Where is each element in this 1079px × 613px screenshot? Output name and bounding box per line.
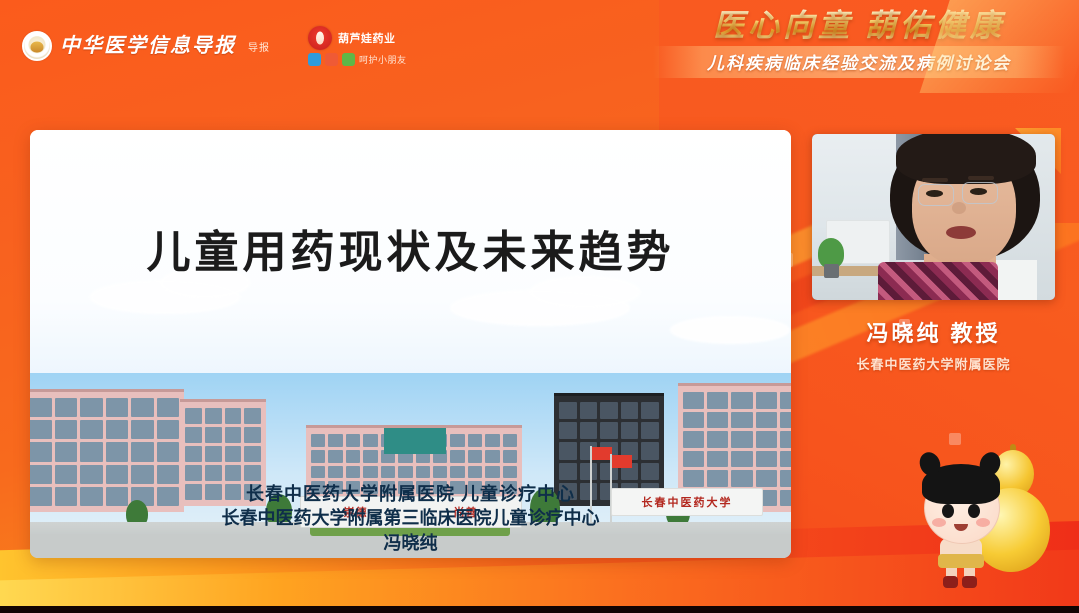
sponsor-logo-name: 葫芦娃药业 (338, 30, 396, 46)
speaker-affiliation: 长春中医药大学附属医院 (812, 354, 1055, 373)
event-banner: 医心向童 葫佑健康 儿科疾病临床经验交流及病例讨论会 (653, 8, 1065, 78)
chip-blue-icon (308, 53, 321, 66)
event-subtitle-strip: 儿科疾病临床经验交流及病例讨论会 (653, 46, 1065, 78)
journal-logo: 中华医学信息导报 导报 (22, 31, 270, 61)
slide-subtitle-line-1: 长春中医药大学附属医院 儿童诊疗中心 (30, 482, 791, 506)
speaker-name: 冯晓纯 教授 (812, 316, 1055, 348)
journal-logo-suffix: 导报 (248, 39, 270, 54)
slide-subtitle-block: 长春中医药大学附属医院 儿童诊疗中心 长春中医药大学附属第三临床医院儿童诊疗中心… (30, 482, 791, 558)
sponsor-logo: 葫芦娃药业 呵护小朋友 (308, 26, 407, 66)
slide-date: 2023.6.21 (30, 555, 791, 558)
letterbox-bar (0, 606, 1079, 613)
journal-logo-name: 中华医学信息导报 (60, 36, 236, 56)
speaker-info: 冯晓纯 教授 长春中医药大学附属医院 (812, 316, 1055, 373)
mascot-child-icon (918, 462, 1004, 582)
speaker-video-feed[interactable] (812, 134, 1055, 300)
gourd-badge-icon (308, 26, 332, 50)
chip-orange-icon (325, 53, 338, 66)
slide-title: 儿童用药现状及未来趋势 (30, 216, 791, 280)
event-title: 医心向童 葫佑健康 (653, 8, 1065, 44)
chip-green-icon (342, 53, 355, 66)
header-logo-row: 中华医学信息导报 导报 葫芦娃药业 呵护小朋友 (22, 26, 407, 66)
presentation-slide[interactable]: 儿童用药现状及未来趋势 (30, 130, 791, 558)
medical-seal-icon (22, 31, 52, 61)
slide-presenter-name: 冯晓纯 (30, 531, 791, 555)
sponsor-logo-tag: 呵护小朋友 (359, 53, 407, 66)
broadcast-screen: 中华医学信息导报 导报 葫芦娃药业 呵护小朋友 医心向童 葫佑健康 儿科疾病临床… (0, 0, 1079, 613)
slide-subtitle-line-2: 长春中医药大学附属第三临床医院儿童诊疗中心 (30, 506, 791, 530)
event-subtitle: 儿科疾病临床经验交流及病例讨论会 (653, 49, 1065, 74)
speaker-video-panel[interactable] (812, 134, 1055, 300)
gourd-boy-mascot-icon (918, 444, 1068, 584)
